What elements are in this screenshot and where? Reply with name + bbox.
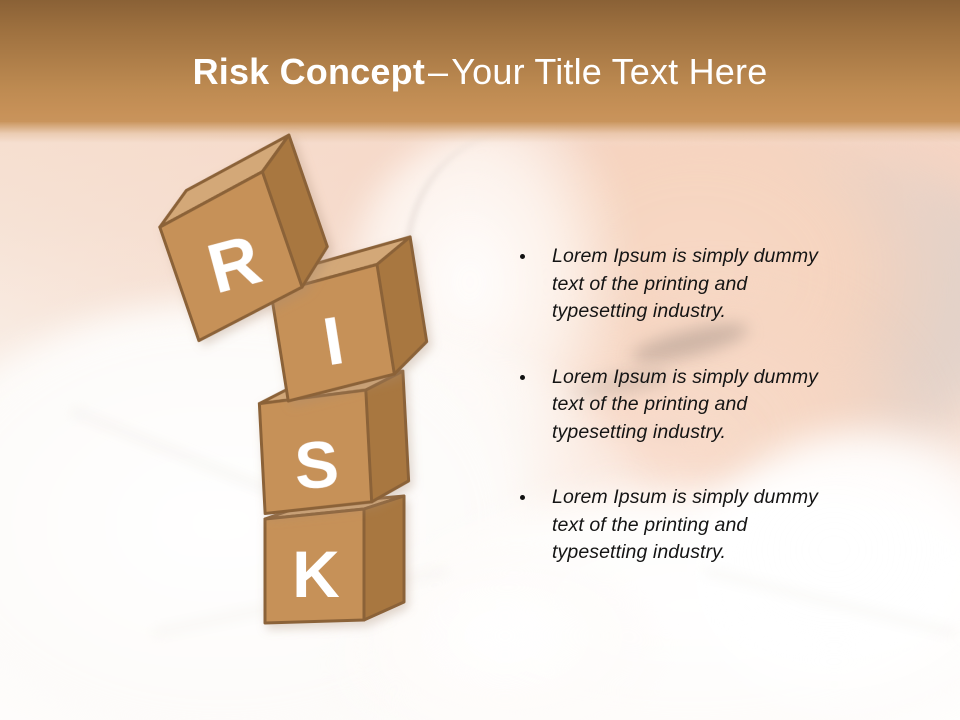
bullet-list: Lorem Ipsum is simply dummy text of the … bbox=[512, 243, 842, 567]
bullet-text: Lorem Ipsum is simply dummy text of the … bbox=[552, 484, 842, 567]
title-rest-part: Your Title Text Here bbox=[451, 51, 767, 92]
title-dash: – bbox=[425, 51, 451, 92]
bullet-dot-icon bbox=[520, 254, 525, 259]
bullet-dot-icon bbox=[520, 495, 525, 500]
page-title: Risk Concept–Your Title Text Here bbox=[0, 49, 960, 95]
list-item: Lorem Ipsum is simply dummy text of the … bbox=[512, 484, 842, 567]
list-item: Lorem Ipsum is simply dummy text of the … bbox=[512, 243, 842, 326]
bullet-text: Lorem Ipsum is simply dummy text of the … bbox=[552, 364, 842, 447]
bullet-text: Lorem Ipsum is simply dummy text of the … bbox=[552, 243, 842, 326]
title-bold-part: Risk Concept bbox=[193, 51, 425, 92]
list-item: Lorem Ipsum is simply dummy text of the … bbox=[512, 364, 842, 447]
slide-canvas: Risk Concept–Your Title Text Here K bbox=[0, 0, 960, 720]
title-bar-fade bbox=[0, 122, 960, 148]
bullet-dot-icon bbox=[520, 375, 525, 380]
